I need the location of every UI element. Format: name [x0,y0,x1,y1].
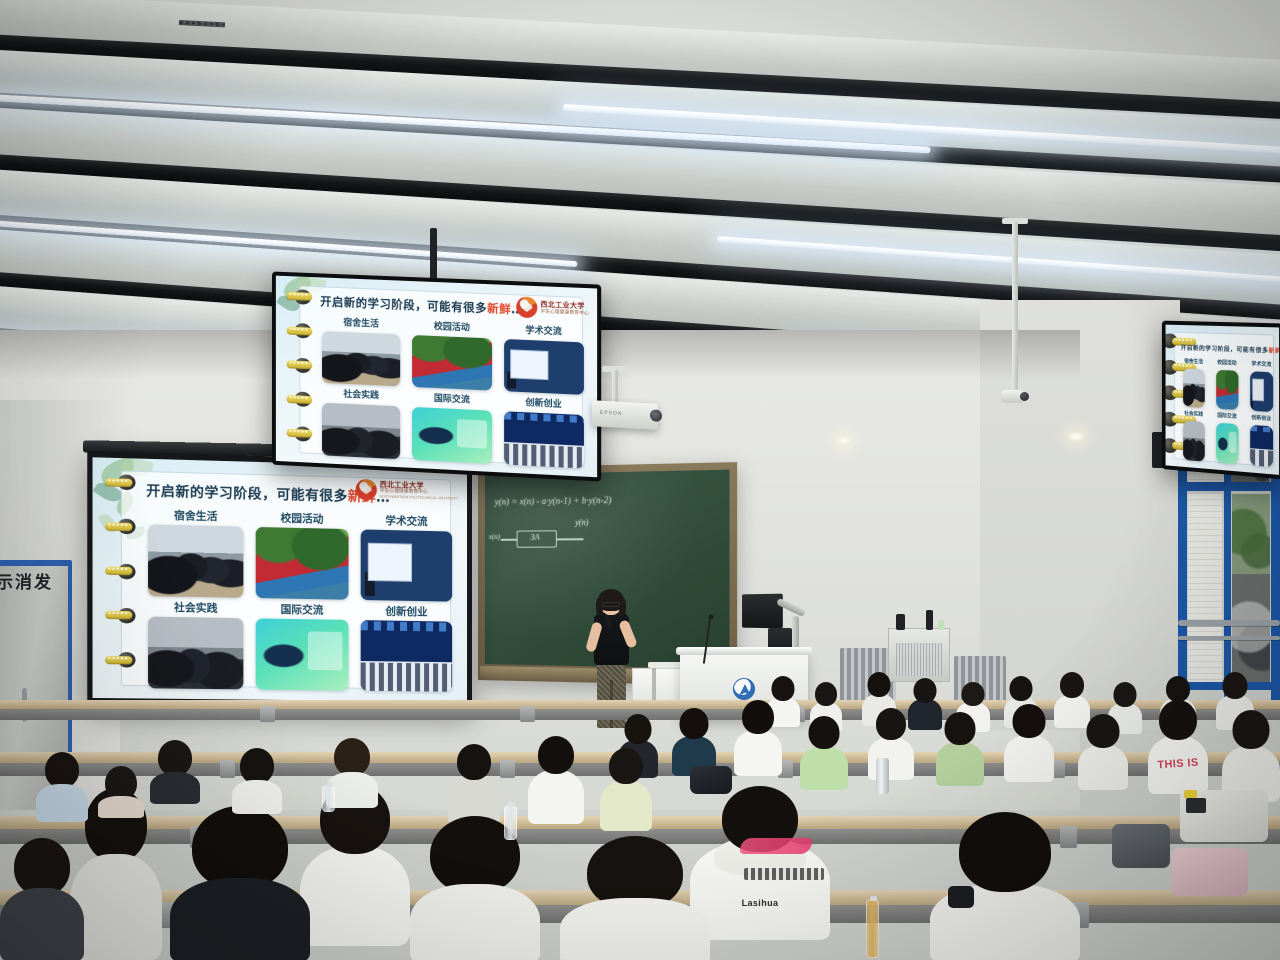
slide-cell-photo [361,530,453,602]
audience-head [680,708,709,739]
audience-member [232,748,282,810]
heart-logo-icon [355,479,376,501]
audience-member [1004,704,1054,780]
audience-member [1222,710,1280,800]
audience-shirt [98,796,144,818]
audience-member [36,752,88,818]
audience-shirt [410,884,540,960]
audience-head [815,682,837,706]
audience-head [1233,710,1270,749]
slide-cell-photo [148,616,243,689]
audience-head [945,712,976,745]
audience-head [538,736,574,774]
tvr-cell-label: 学术交流 [1248,360,1275,368]
audience-head [625,714,652,744]
slide-canvas: 开启新的学习阶段，可能有很多新鲜… 西北工业大学 学生心理健康教育中心 NORT… [93,457,468,702]
tv-cell-label: 国际交流 [410,390,493,407]
audience-head [962,682,985,706]
slide-cell-label: 校园活动 [253,510,350,528]
window-guard-rail [1178,636,1280,640]
audience-member [98,766,144,816]
blackboard-equation: y(n) = x(n) - a·y(n-1) + b·y(n-2) [495,495,612,507]
slide-cell-photo [148,525,243,598]
tvr-cell-label: 创新创业 [1248,414,1275,423]
audience-member [1078,714,1128,788]
camera-pole [1012,222,1018,394]
audience-member [300,784,410,944]
audience-head [334,738,370,776]
tv-mount-arm [430,228,437,284]
audience-member [410,816,540,960]
audience-member-this-is: THIS IS [1148,700,1208,792]
slide-cell-label: 国际交流 [253,601,350,618]
tvr-cell-label: 宿舍生活 [1181,357,1206,365]
audience-shirt [232,780,282,814]
jacket [1172,848,1248,896]
main-projection-screen: 开启新的学习阶段，可能有很多新鲜… 西北工业大学 学生心理健康教育中心 NORT… [87,451,472,712]
audience-head [1060,672,1084,698]
audience-member [800,716,848,788]
audience-member [448,744,500,822]
audience-shirt [868,737,914,780]
thermos [876,758,889,794]
tv-cell-label: 校园活动 [410,318,493,335]
binder-rings [101,472,136,684]
audience-member [0,838,84,960]
audience-shirt [600,781,652,831]
audience-member [734,700,782,774]
university-name-en: NORTHWESTERN POLYTECHNICAL UNIVERSITY [380,496,458,501]
audience-head [772,676,795,701]
audience-head [45,752,79,788]
wristwatch [948,886,974,908]
tvr-cell-label: 国际交流 [1214,412,1240,421]
slide-cell-label: 宿舍生活 [146,507,245,525]
recessed-downlight [1068,432,1084,441]
audience-member [600,748,652,828]
audience-head [809,716,840,749]
hoodie-graphic [740,838,812,854]
cabinet-item [938,620,944,630]
podium-top [676,647,812,655]
audience-head [609,748,643,784]
audience-shirt [1004,735,1054,782]
slide-cell-label: 学术交流 [359,512,455,529]
slide-cell-social: 社会实践 [146,601,245,690]
tv-cell-label: 创新创业 [502,394,586,411]
audience-head [1013,704,1046,738]
audience-head [1114,682,1137,707]
slide-cell-photo [255,527,348,600]
audience-head [1087,714,1120,748]
audience-shirt [170,878,310,960]
cabinet-item [896,614,905,630]
audience-member-lasihua: Lasihua [690,786,830,936]
audience-member [672,708,716,774]
audience-head [105,766,137,800]
equipment-cabinet [888,628,950,682]
projector-pole [612,370,618,404]
tvr-slide-title-highlight: 新鲜 [1269,347,1280,355]
water-bottle [322,786,335,812]
audience-shirt [300,846,410,946]
audience-head [959,812,1051,892]
audience-member [560,836,710,960]
camera-lens-icon [1020,392,1029,401]
slide-photo-grid: 宿舍生活 校园活动 学术交流 社会实践 国际交流 [146,509,454,692]
slide-cell-photo [255,618,348,690]
audience-shirt [560,898,710,960]
audience-shirt [734,730,782,776]
ceiling-camera [1000,390,1026,403]
slide-cell-dorm: 宿舍生活 [146,509,245,599]
heart-logo-icon [516,297,537,319]
slide-title: 开启新的学习阶段，可能有很多新鲜… [146,480,390,507]
slide-cell-innovation: 创新创业 [359,605,455,693]
university-dept: 学生心理健康教育中心 [540,310,589,317]
device [1186,798,1206,813]
audience-member [170,806,310,960]
tvr-cell-label: 社会实践 [1181,410,1206,418]
tv-slide-title-highlight: 新鲜 [487,301,511,316]
projector-lens-icon [650,409,662,422]
audience-head [1010,676,1033,701]
audience-shirt [0,888,84,960]
audience-member [150,740,200,800]
tv-cell-label: 宿舍生活 [320,314,402,330]
audience-head [1166,676,1190,702]
slide-cell-photo [361,620,453,691]
tv-cell-label: 学术交流 [502,322,586,339]
audience-head [914,678,937,703]
university-logo: 西北工业大学 学生心理健康教育中心 NORTHWESTERN POLYTECHN… [355,479,457,503]
cabinet-item [926,610,933,630]
ceiling-projector: EPSON [592,400,658,429]
shirt-text: Lasihua [742,898,779,908]
door-sign: 示消发 [0,568,66,593]
hoodie-graphic-text [744,868,824,880]
slide-cell-label: 社会实践 [146,599,245,616]
slide-cell-international: 国际交流 [253,603,350,691]
slide-cell-academic: 学术交流 [359,514,455,602]
presenter-hair [598,589,624,611]
window-guard-rail [1178,620,1280,626]
projector-brand: EPSON [600,410,623,417]
blackboard-block [517,530,557,548]
lecture-hall-photo: 示消发 y(n) = x(n) - a·y(n-1) + b·y(n-2) y(… [0,0,1280,960]
audience-head [457,744,491,780]
audience-head [742,700,774,734]
audience-shirt [150,772,200,804]
audience-shirt [36,784,88,822]
tv-cell-label: 社会实践 [320,386,402,403]
blackboard-input-label: x(n) [489,533,500,541]
glasses-icon [602,602,620,607]
audience-head [868,672,891,697]
marker [1184,790,1197,798]
audience-member [528,736,584,822]
audience-shirt [800,746,848,790]
slide-title-plain: 开启新的学习阶段，可能有很多 [146,484,348,505]
slide-cell-label: 创新创业 [359,603,455,620]
podium-monitor[interactable] [742,594,783,629]
audience-shirt [1078,745,1128,790]
water-bottle [866,900,879,958]
audience-head [1223,672,1248,699]
blackboard-arrow [557,538,584,540]
audience-head [158,740,192,776]
audience-member [936,712,984,784]
audience-head [240,748,274,784]
tvr-slide-title-plain: 开启新的学习阶段，可能有很多 [1181,344,1269,354]
audience-member [868,708,914,778]
slide-cell-campus: 校园活动 [253,512,350,601]
audience-head [876,708,906,740]
blackboard-arrow [501,539,517,541]
blackboard-block-label: 3A [531,532,540,541]
recessed-downlight [836,436,852,445]
audience-shirt [936,742,984,786]
wall-tv-right: 开启新的学习阶段，可能有很多新鲜 宿舍生活 校园活动 学术交流 社会实践 国际交… [1162,321,1280,480]
tvr-cell-label: 校园活动 [1214,358,1240,366]
ceiling-tv-center: 开启新的学习阶段，可能有很多新鲜… 西北工业大学 学生心理健康教育中心 宿舍生活… [272,272,601,482]
audience-head [1159,700,1197,740]
water-bottle [504,806,517,840]
backpack [1112,824,1170,868]
blackboard-signal-label: y(n) [575,518,588,527]
tv-slide-title-plain: 开启新的学习阶段，可能有很多 [320,295,487,316]
